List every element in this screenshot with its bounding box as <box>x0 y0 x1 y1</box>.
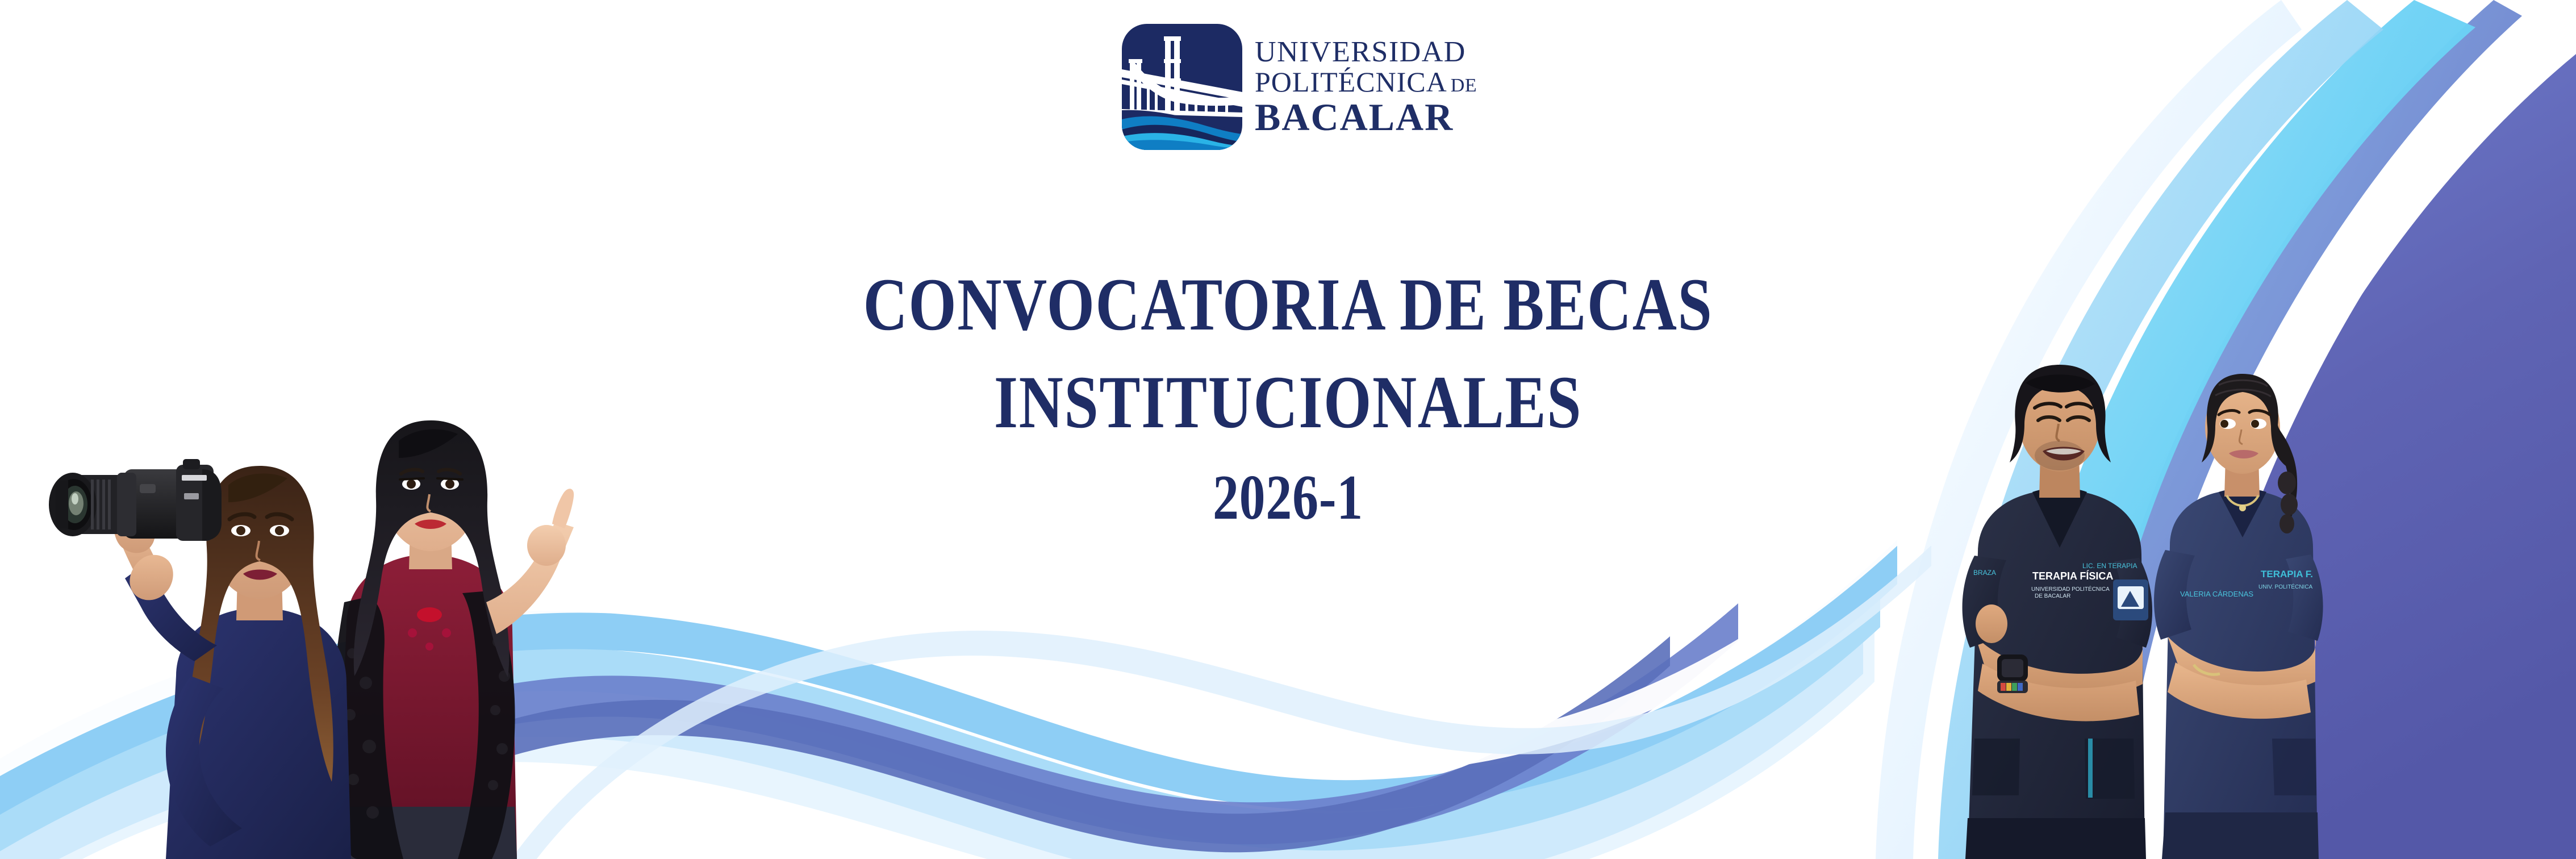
student-pointing <box>331 420 574 859</box>
becas-banner: TERAPIA F. UNIV. POLITÉCNICA VALERIA CÁR… <box>0 0 2576 859</box>
svg-text:TERAPIA FÍSICA: TERAPIA FÍSICA <box>2032 570 2113 582</box>
svg-text:VALERIA CÁRDENAS: VALERIA CÁRDENAS <box>2180 590 2253 598</box>
logo-line-universidad: UNIVERSIDAD <box>1255 37 1477 67</box>
logo-de-text: DE <box>1451 76 1477 96</box>
student-female-scrubs: TERAPIA F. UNIV. POLITÉCNICA VALERIA CÁR… <box>2154 374 2323 859</box>
svg-text:TERAPIA F.: TERAPIA F. <box>2261 569 2313 579</box>
logo-wordmark: UNIVERSIDAD POLITÉCNICA DE BACALAR <box>1255 37 1477 137</box>
camera-icon <box>49 459 222 541</box>
student-with-camera <box>49 459 351 859</box>
svg-text:DE BACALAR: DE BACALAR <box>2035 593 2070 599</box>
logo-line-bacalar: BACALAR <box>1255 98 1477 136</box>
students-photography-pair <box>6 358 665 859</box>
university-logo: UNIVERSIDAD POLITÉCNICA DE BACALAR <box>1122 24 1477 150</box>
student-male-scrubs: TERAPIA FÍSICA UNIVERSIDAD POLITÉCNICA D… <box>1963 365 2152 859</box>
svg-text:LIC. EN TERAPIA: LIC. EN TERAPIA <box>2082 562 2137 570</box>
upb-bridge-logo-icon <box>1122 24 1242 150</box>
svg-text:BRAZA: BRAZA <box>1973 569 1996 577</box>
students-physiotherapy-pair: TERAPIA F. UNIV. POLITÉCNICA VALERIA CÁR… <box>1943 341 2374 859</box>
svg-text:UNIVERSIDAD POLITÉCNICA: UNIVERSIDAD POLITÉCNICA <box>2031 585 2110 593</box>
svg-text:UNIV. POLITÉCNICA: UNIV. POLITÉCNICA <box>2258 583 2313 590</box>
logo-politecnica-text: POLITÉCNICA <box>1255 67 1447 97</box>
logo-line-politecnica: POLITÉCNICA DE <box>1255 67 1477 97</box>
